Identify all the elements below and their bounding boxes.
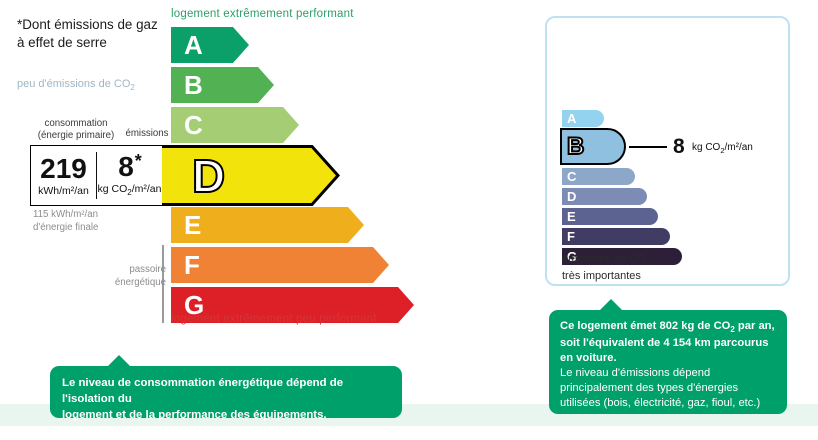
chart-caption-top: logement extrêmement performant (171, 8, 354, 20)
emissions-unit-post: /m²/an (132, 183, 162, 195)
consumption-header: consommation (énergie primaire) (33, 118, 119, 142)
consumption-value-cell: 219 kWh/m²/an (31, 146, 96, 205)
energy-class-row-e: E (171, 207, 364, 243)
ges-bar-e: E (562, 208, 658, 225)
ges-title-line2: à effet de serre (17, 35, 107, 50)
energy-class-row-f: F (171, 247, 389, 283)
energy-class-row-b: B (171, 67, 274, 103)
callout-right-line1-post: par an, (735, 320, 775, 332)
energy-bar-a: A (171, 27, 249, 63)
ges-letter-f: F (567, 229, 575, 244)
energy-bar-b: B (171, 67, 274, 103)
consumption-value: 219 (40, 155, 87, 183)
consumption-unit: kWh/m²/an (38, 185, 89, 197)
energy-class-row-c: C (171, 107, 299, 143)
emissions-unit: kg CO2/m²/an (98, 183, 162, 197)
ges-scale-bottom-sub: 2 (646, 258, 650, 267)
energy-bar-f: F (171, 247, 389, 283)
final-energy-note: 115 kWh/m²/an d'énergie finale (33, 209, 98, 234)
energy-bar-e: E (171, 207, 364, 243)
energy-class-row-a: A (171, 27, 249, 63)
callout-right-line6: utilisées (bois, électricité, gaz, fioul… (560, 396, 776, 411)
callout-energy-advice: Le niveau de consommation énergétique dé… (50, 366, 402, 418)
energy-letter-a: A (184, 32, 203, 58)
callout-left-line1: Le niveau de consommation énergétique dé… (62, 375, 390, 407)
passoire-line2: énergétique (86, 277, 166, 290)
ges-value-unit: kg CO2/m²/an (692, 142, 753, 155)
energy-letter-c: C (184, 112, 203, 138)
passoire-label: passoire énergétique (86, 264, 166, 289)
callout-right-line5: principalement des types d'énergies (560, 381, 776, 396)
energy-letter-e: E (184, 212, 201, 238)
callout-right-line1: Ce logement émet 802 kg de CO2 par an, (560, 319, 776, 336)
ges-scale-bottom-label: émissions de CO2 très importantes (562, 252, 650, 283)
callout-right-line4: Le niveau d'émissions dépend (560, 366, 776, 381)
energy-letter-d: D (192, 153, 225, 199)
ges-bar-f: F (562, 228, 670, 245)
emissions-asterisk: * (135, 151, 142, 171)
ges-panel-title: *Dont émissions de gaz à effet de serre (17, 16, 158, 51)
emissions-number: 8 (118, 151, 134, 182)
ges-letter-b: B (567, 135, 584, 159)
final-energy-line1: 115 kWh/m²/an (33, 209, 98, 222)
ges-bars-container: A B 8 kg CO2/m²/an C D E F G émissions d… (545, 16, 790, 286)
energy-letter-b: B (184, 72, 203, 98)
ges-scale-bottom-line2: très importantes (562, 270, 641, 282)
ges-title-line1: Dont émissions de gaz (22, 17, 157, 32)
ges-scale-bottom-pre: émissions de CO (562, 253, 646, 265)
ges-letter-a: A (567, 111, 576, 126)
ges-letter-c: C (567, 169, 576, 184)
emissions-unit-pre: kg CO (98, 183, 128, 195)
callout-right-line2: soit l'équivalent de 4 154 km parcourus (560, 336, 776, 351)
ges-scale-top-sub: 2 (130, 83, 134, 92)
energy-consumption-chart: logement extrêmement performant A B C D (0, 0, 540, 426)
ges-scale-top-pre: peu d'émissions de CO (17, 78, 130, 90)
callout-right-line1-pre: Ce logement émet 802 kg de CO (560, 320, 730, 332)
callout-right-tip (600, 299, 622, 310)
consumption-header-line2: (énergie primaire) (33, 130, 119, 142)
passoire-line1: passoire (86, 264, 166, 277)
dpe-energy-label: logement extrêmement performant A B C D (0, 0, 818, 426)
ges-bar-a: A (562, 110, 604, 127)
ges-scale-top-label: peu d'émissions de CO2 (17, 78, 135, 92)
emissions-value-cell: 8* kg CO2/m²/an (97, 146, 162, 205)
energy-letter-f: F (184, 252, 200, 278)
ges-value: 8 (673, 136, 685, 157)
emissions-header: émissions (120, 128, 174, 140)
chart-caption-bottom: logement extrêmement peu performant (171, 313, 377, 325)
callout-left-tip (108, 355, 130, 366)
callout-left-line2: logement et de la performance des équipe… (62, 407, 390, 423)
ges-letter-e: E (567, 209, 576, 224)
final-energy-line2: d'énergie finale (33, 222, 98, 235)
ges-unit-pre: kg CO (692, 142, 720, 153)
ges-bar-b-current: B (560, 128, 626, 165)
ges-bar-c: C (562, 168, 635, 185)
energy-bar-c: C (171, 107, 299, 143)
emissions-value: 8* (118, 153, 141, 181)
ges-letter-d: D (567, 189, 576, 204)
ges-value-leader-line (629, 146, 667, 148)
callout-ges-advice: Ce logement émet 802 kg de CO2 par an, s… (549, 310, 787, 414)
energy-value-box: 219 kWh/m²/an 8* kg CO2/m²/an (31, 146, 162, 205)
ges-unit-post: /m²/an (725, 142, 753, 153)
callout-right-line3: en voiture. (560, 351, 776, 366)
ges-bar-d: D (562, 188, 647, 205)
consumption-header-line1: consommation (33, 118, 119, 130)
